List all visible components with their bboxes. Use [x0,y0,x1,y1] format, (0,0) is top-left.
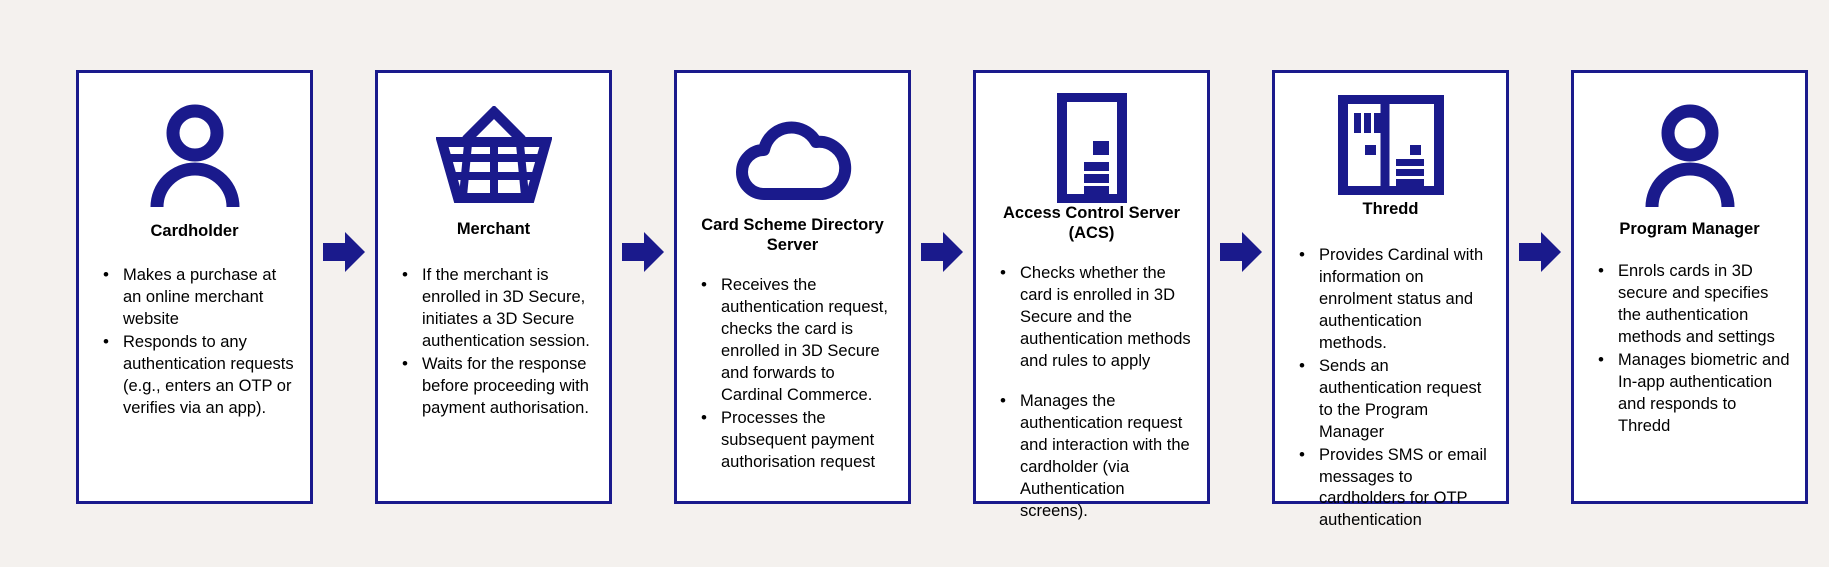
cloud-icon [677,97,908,215]
panel-title: Card Scheme Directory Server [677,215,908,255]
panel-cardholder[interactable]: Cardholder Makes a purchase at an online… [76,70,313,504]
panel-title: Cardholder [79,221,310,241]
panel-bullets: If the merchant is enrolled in 3D Secure… [378,265,609,421]
panel-bullets: Provides Cardinal with information on en… [1275,245,1506,533]
list-item: Responds to any authentication requests … [123,332,296,420]
flow-row: Cardholder Makes a purchase at an online… [0,0,1829,567]
panel-bullets: Receives the authentication request, che… [677,275,908,474]
panel-title: Program Manager [1574,219,1805,239]
panel-program-manager[interactable]: Program Manager Enrols cards in 3D secur… [1571,70,1808,504]
list-item: Checks whether the card is enrolled in 3… [1020,263,1193,373]
person-icon [1574,97,1805,215]
server-rack-icon [1275,95,1506,195]
list-item: Processes the subsequent payment authori… [721,408,894,474]
arrow-right-icon-2 [612,70,674,504]
arrow-right-icon-1 [313,70,375,504]
arrow-right-icon-4 [1210,70,1272,504]
panel-bullets: Enrols cards in 3D secure and specifies … [1574,261,1805,439]
list-item: Enrols cards in 3D secure and specifies … [1618,261,1791,349]
server-tower-icon [976,93,1207,203]
arrow-right-icon-5 [1509,70,1571,504]
arrow-right-icon-3 [911,70,973,504]
panel-title: Access Control Server (ACS) [976,203,1207,243]
list-item: Manages the authentication request and i… [1020,391,1193,523]
panel-bullets: Checks whether the card is enrolled in 3… [976,263,1207,523]
list-item: Makes a purchase at an online merchant w… [123,265,296,331]
panel-bullets: Makes a purchase at an online merchant w… [79,265,310,421]
list-item: Provides SMS or email messages to cardho… [1319,445,1492,533]
panel-merchant[interactable]: Merchant If the merchant is enrolled in … [375,70,612,504]
person-icon [79,97,310,215]
panel-thredd[interactable]: Thredd Provides Cardinal with informatio… [1272,70,1509,504]
list-item: Receives the authentication request, che… [721,275,894,407]
list-item: Sends an authentication request to the P… [1319,356,1492,444]
panel-card-scheme-directory-server[interactable]: Card Scheme Directory Server Receives th… [674,70,911,504]
list-item: If the merchant is enrolled in 3D Secure… [422,265,595,353]
three-d-secure-flow-diagram: Cardholder Makes a purchase at an online… [0,0,1829,567]
panel-title: Thredd [1275,199,1506,219]
list-item: Manages biometric and In-app authenticat… [1618,350,1791,438]
panel-title: Merchant [378,219,609,239]
panel-access-control-server[interactable]: Access Control Server (ACS) Checks wheth… [973,70,1210,504]
shopping-basket-icon [378,97,609,215]
list-item: Waits for the response before proceeding… [422,354,595,420]
list-item: Provides Cardinal with information on en… [1319,245,1492,355]
